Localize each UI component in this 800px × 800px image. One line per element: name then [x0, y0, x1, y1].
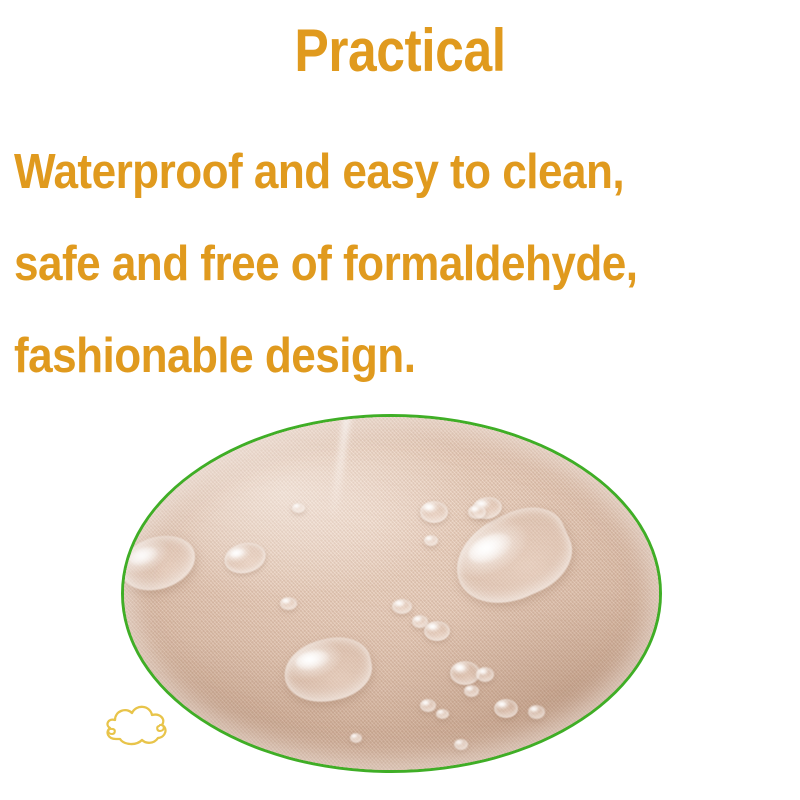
- headline-line-3: fashionable design.: [14, 310, 721, 402]
- product-feature-panel: Practical Waterproof and easy to clean, …: [0, 0, 800, 800]
- cloud-icon: [102, 699, 170, 751]
- fabric-edge-vignette: [124, 417, 659, 770]
- headline-line-1: Waterproof and easy to clean,: [14, 126, 721, 218]
- fabric-photo-oval: [121, 414, 662, 773]
- headline-body: Waterproof and easy to clean, safe and f…: [14, 126, 800, 402]
- headline-line-2: safe and free of formaldehyde,: [14, 218, 721, 310]
- page-title: Practical: [56, 18, 744, 84]
